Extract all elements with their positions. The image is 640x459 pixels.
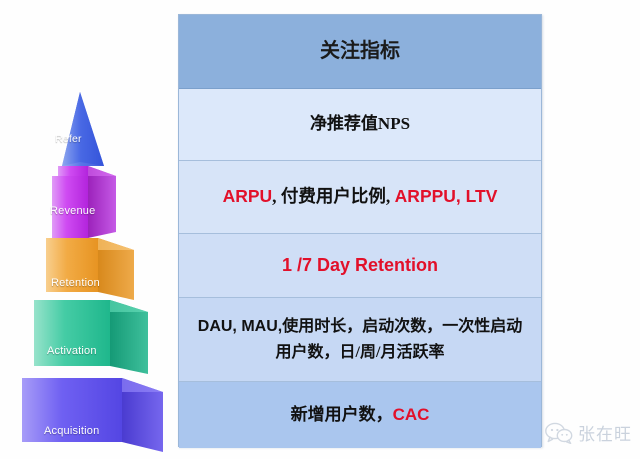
pyramid-tier-referral[interactable] — [62, 92, 104, 166]
table-row[interactable]: ARPU, 付费用户比例, ARPPU, LTV — [179, 161, 541, 234]
metric-paying-user-ratio: , 付费用户比例, — [272, 186, 395, 206]
pyramid-tier-retention[interactable] — [46, 238, 134, 300]
metric-day-retention: 1 /7 Day Retention — [282, 255, 438, 275]
table-header-row: 关注指标 — [179, 15, 541, 89]
table-row[interactable]: 新增用户数，CAC — [179, 382, 541, 448]
table-row[interactable]: DAU, MAU,使用时长，启动次数，一次性启动用户数，日/周/月活跃率 — [179, 298, 541, 382]
aarrr-pyramid: Refer Revenue Retention Activation Acqui… — [0, 0, 180, 459]
table-header-title: 关注指标 — [191, 37, 529, 66]
wechat-bubbles-icon — [545, 422, 573, 444]
slide-canvas: Refer Revenue Retention Activation Acqui… — [0, 0, 640, 459]
metric-arppu-ltv: ARPPU, LTV — [395, 186, 498, 206]
watermark-text: 张在旺 — [578, 420, 632, 445]
metric-engagement-list: 使用时长，启动次数，一次性启动用户数，日/周/月活跃率 — [276, 318, 523, 361]
pyramid-tier-revenue[interactable] — [52, 166, 116, 238]
metrics-table: 关注指标 净推荐值NPS ARPU, 付费用户比例, ARPPU, LTV 1 … — [178, 14, 542, 447]
table-row[interactable]: 1 /7 Day Retention — [179, 234, 541, 298]
pyramid-graphic — [0, 0, 180, 459]
pyramid-tier-activation[interactable] — [34, 300, 148, 374]
pyramid-tier-acquisition[interactable] — [10, 378, 163, 459]
metric-nps: 净推荐值NPS — [310, 114, 410, 133]
metric-arpu: ARPU — [223, 186, 273, 206]
watermark: 张在旺 — [545, 420, 632, 445]
metric-new-users: 新增用户数， — [291, 405, 393, 424]
table-row[interactable]: 净推荐值NPS — [179, 89, 541, 161]
metric-cac: CAC — [393, 405, 430, 424]
metric-dau-mau: DAU, MAU, — [198, 318, 282, 335]
